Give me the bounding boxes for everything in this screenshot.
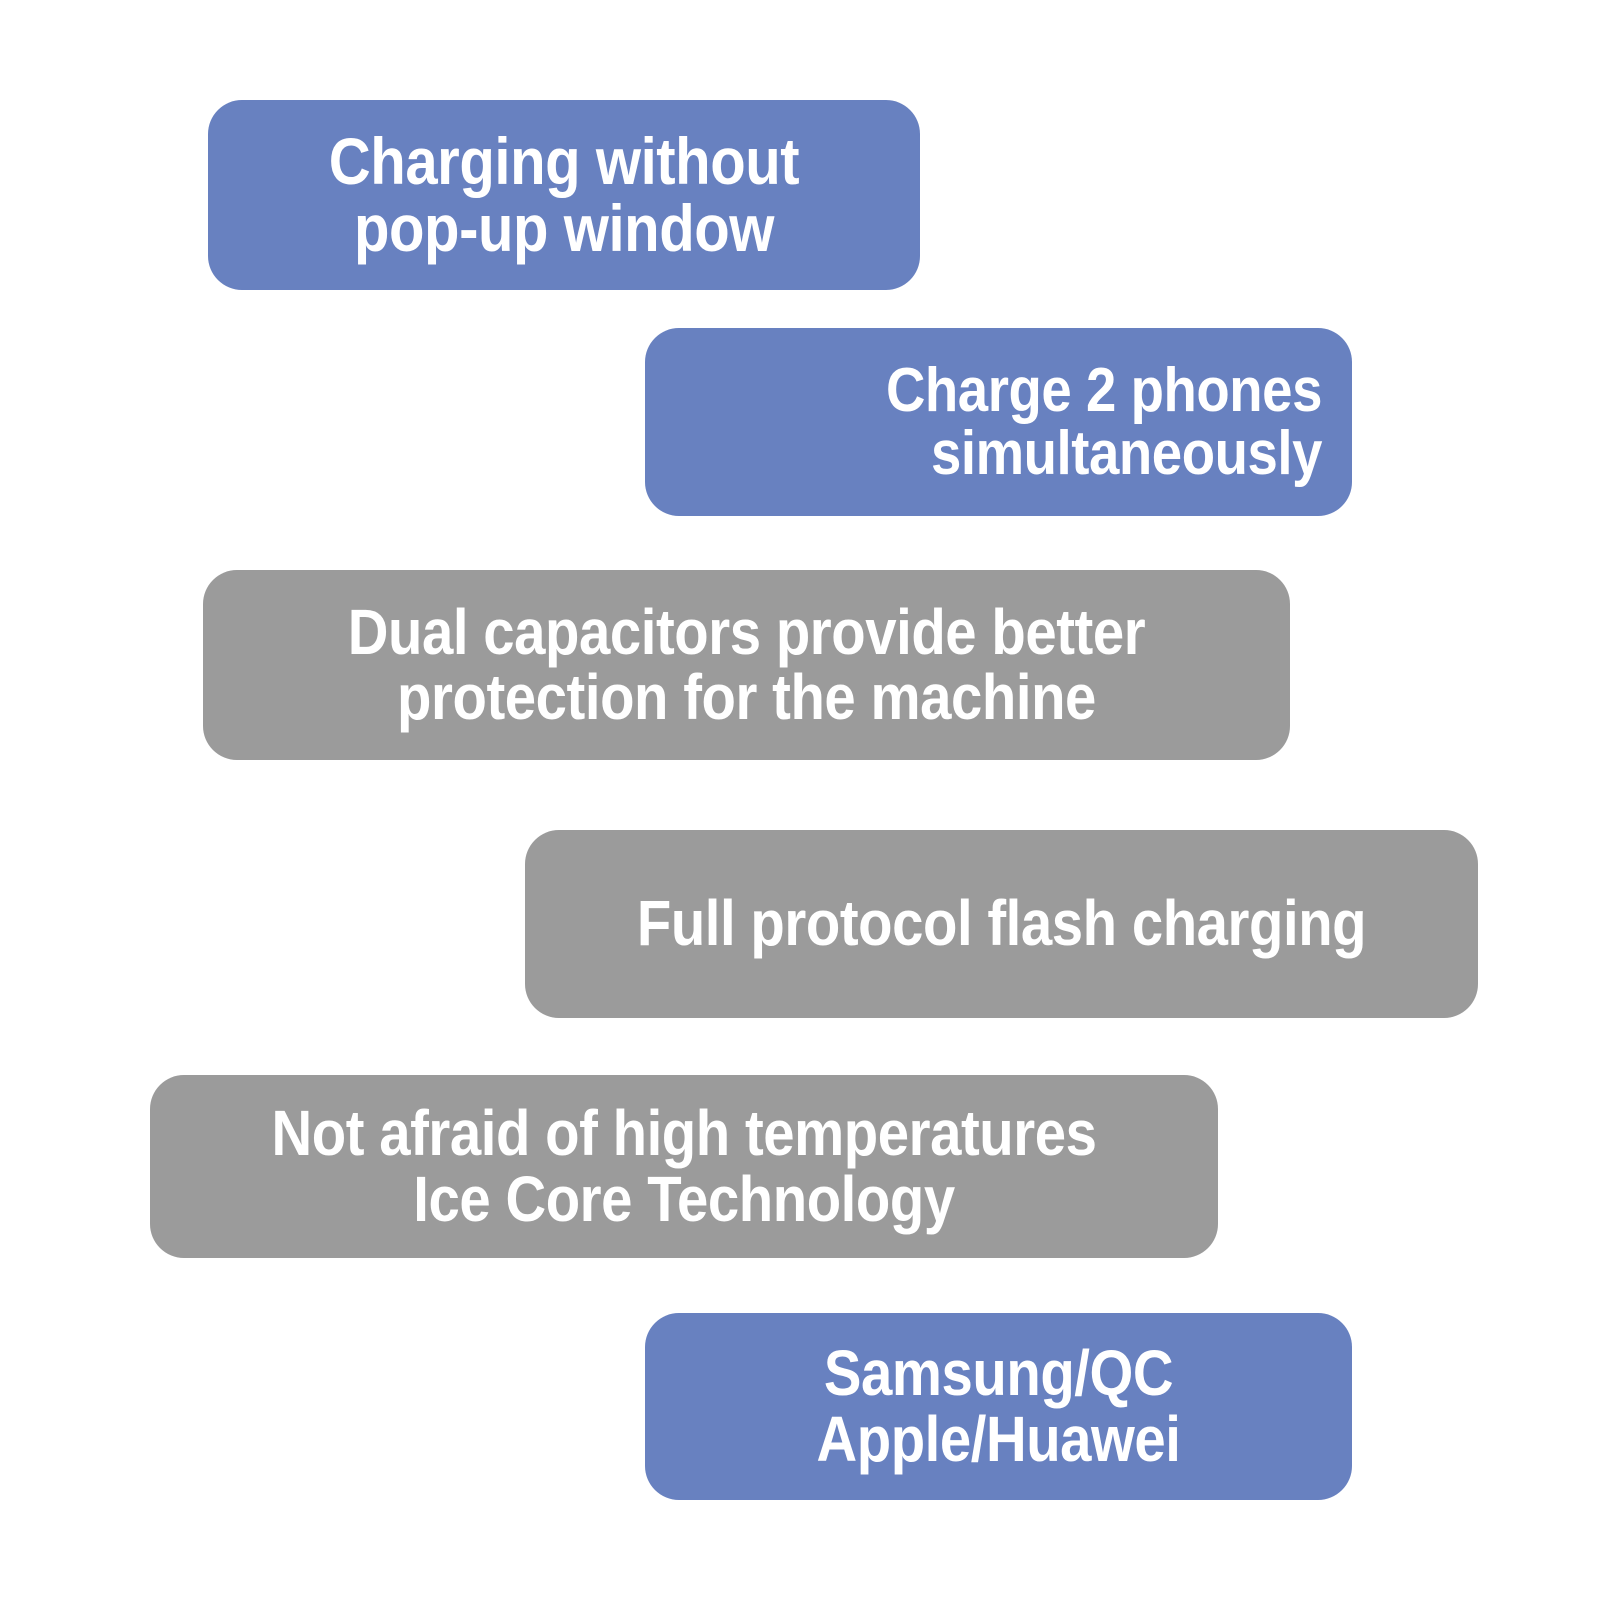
feature-badge-canvas: Charging without pop-up window Charge 2 …	[0, 0, 1600, 1600]
badge-line: Apple/Huawei	[714, 1407, 1283, 1472]
badge-line: Ice Core Technology	[239, 1167, 1130, 1232]
badge-line: Not afraid of high temperatures	[239, 1101, 1130, 1166]
feature-badge-brand-compatibility: Samsung/QC Apple/Huawei	[645, 1313, 1352, 1500]
feature-badge-charging-without-popup: Charging without pop-up window	[208, 100, 920, 290]
feature-badge-full-protocol-flash-charging: Full protocol flash charging	[525, 830, 1478, 1018]
badge-line: protection for the machine	[295, 665, 1199, 730]
badge-line: Charging without	[275, 128, 852, 195]
badge-line: Samsung/QC	[714, 1341, 1283, 1406]
badge-line: Charge 2 phones	[753, 359, 1322, 422]
badge-line: Full protocol flash charging	[609, 891, 1395, 956]
feature-badge-dual-capacitors: Dual capacitors provide better protectio…	[203, 570, 1290, 760]
badge-line: Dual capacitors provide better	[295, 600, 1199, 665]
badge-line: pop-up window	[275, 195, 852, 262]
badge-line: simultaneously	[753, 422, 1322, 485]
feature-badge-charge-2-phones: Charge 2 phones simultaneously	[645, 328, 1352, 516]
feature-badge-ice-core-technology: Not afraid of high temperatures Ice Core…	[150, 1075, 1218, 1258]
